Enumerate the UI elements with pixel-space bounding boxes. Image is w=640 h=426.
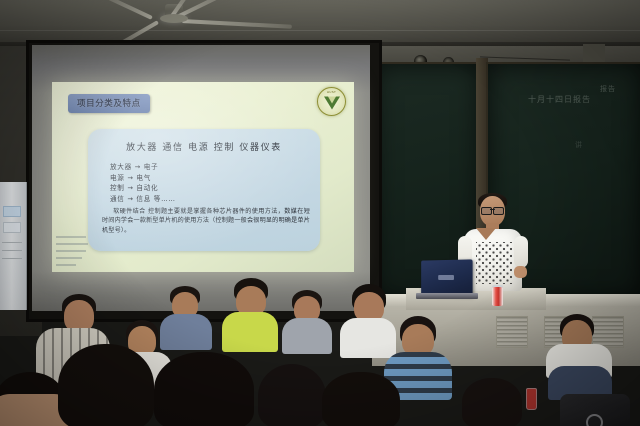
ceiling-seam bbox=[0, 30, 640, 31]
projected-object-shadow bbox=[54, 228, 90, 272]
university-emblem-icon: HUST bbox=[317, 87, 346, 116]
chalk-writing: 讲 bbox=[575, 140, 583, 150]
projected-slide: 项目分类及特点 HUST 放大器 通信 电源 控制 仪器仪表 放大器 → 电子 … bbox=[52, 82, 354, 272]
slide-paragraph-text: 软硬件结合 控制题主要就是掌握各种芯片器件的使用方法，数媒在短时间内学会一款新型… bbox=[102, 208, 310, 234]
cabinet-seam bbox=[2, 250, 22, 251]
backpack-ring bbox=[586, 414, 603, 426]
slide-title-box: 项目分类及特点 bbox=[68, 94, 150, 113]
slide-mapping-row: 电源 → 电气 bbox=[110, 173, 176, 184]
cabinet-label bbox=[3, 206, 21, 217]
cabinet-seam bbox=[2, 242, 22, 243]
glasses-icon bbox=[481, 207, 504, 213]
slide-title: 项目分类及特点 bbox=[77, 97, 141, 109]
slide-mapping-list: 放大器 → 电子 电源 → 电气 控制 → 自动化 通信 → 信息 等…… bbox=[110, 162, 176, 205]
slide-mapping-row: 放大器 → 电子 bbox=[110, 162, 176, 173]
glasses-lens-right bbox=[493, 207, 504, 215]
ceiling-fan-motor bbox=[160, 14, 188, 23]
cabinet-label bbox=[3, 222, 21, 233]
wall-mounted-box bbox=[583, 44, 605, 62]
emblem-triangle-inner bbox=[328, 97, 336, 104]
lecture-hall-photo: 十月十四日报告 报告 讲 项目分类及特点 HUST 放大器 通信 电源 控制 仪… bbox=[0, 0, 640, 426]
slide-paragraph: 软硬件结合 控制题主要就是掌握各种芯片器件的使用方法，数媒在短时间内学会一款新型… bbox=[102, 207, 310, 235]
presenter-arm-right bbox=[514, 236, 528, 268]
slide-mapping-row: 通信 → 信息 等…… bbox=[110, 194, 176, 205]
slide-mapping-row: 控制 → 自动化 bbox=[110, 183, 176, 194]
chalk-writing: 报告 bbox=[600, 84, 616, 94]
slide-content-panel: 放大器 通信 电源 控制 仪器仪表 放大器 → 电子 电源 → 电气 控制 → … bbox=[88, 129, 320, 251]
chalk-writing: 十月十四日报告 bbox=[528, 94, 591, 105]
slide-panel-heading: 放大器 通信 电源 控制 仪器仪表 bbox=[88, 140, 320, 153]
emblem-text: HUST bbox=[318, 90, 345, 94]
audience-area bbox=[0, 268, 640, 426]
red-bottle bbox=[526, 388, 537, 410]
cabinet-seam bbox=[2, 258, 22, 259]
